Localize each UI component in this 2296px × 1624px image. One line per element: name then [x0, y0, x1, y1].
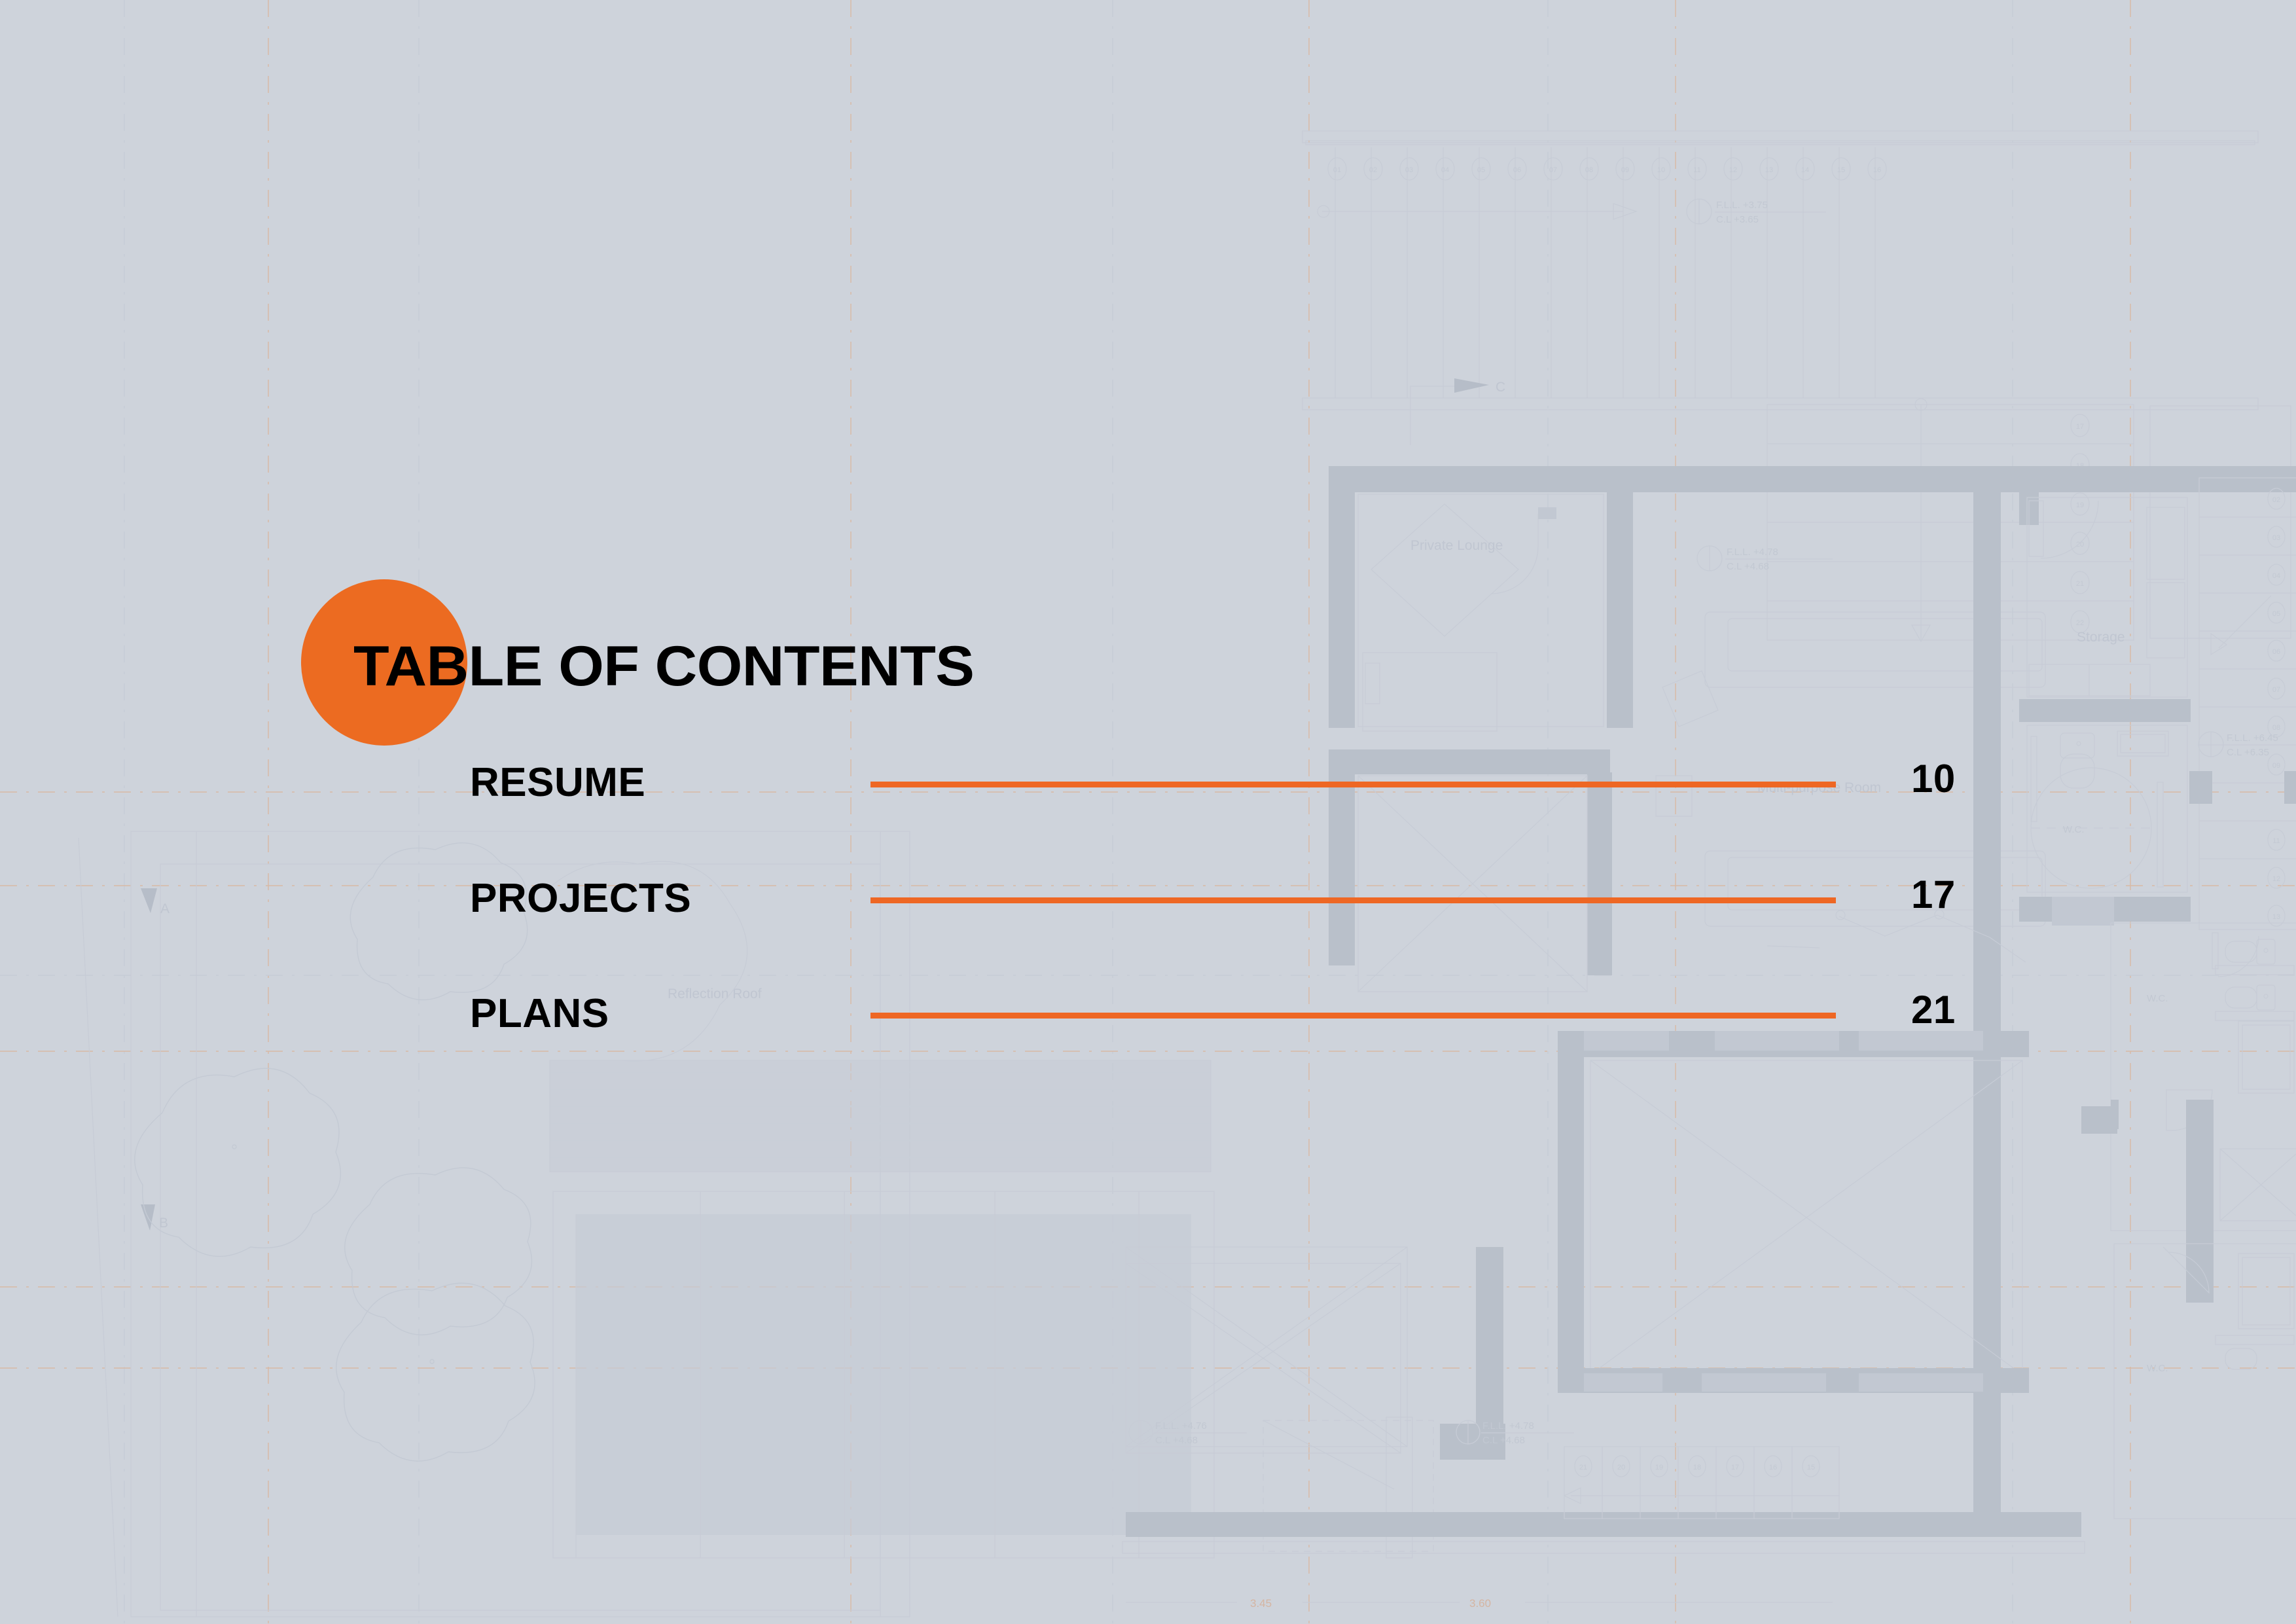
toc-label-plans: PLANS: [470, 994, 609, 1034]
toc-label-projects: PROJECTS: [470, 878, 691, 919]
toc-page-number-resume: 10: [1911, 759, 1956, 799]
toc-page-number-projects: 17: [1911, 875, 1956, 914]
toc-entry-projects[interactable]: PROJECTS: [470, 867, 1995, 930]
toc-entry-plans[interactable]: PLANS: [470, 983, 1995, 1045]
toc-page-number-plans: 21: [1911, 990, 1956, 1030]
toc-label-resume: RESUME: [470, 763, 645, 803]
page-title: TABLE OF CONTENTS: [353, 638, 974, 695]
slide-canvas: .ln{fill:none;stroke:#bfc6d0;stroke-widt…: [0, 0, 2296, 1624]
table-of-contents: TABLE OF CONTENTS RESUME PROJECTS PLANS …: [0, 0, 2296, 1624]
toc-entry-resume[interactable]: RESUME: [470, 751, 1995, 814]
